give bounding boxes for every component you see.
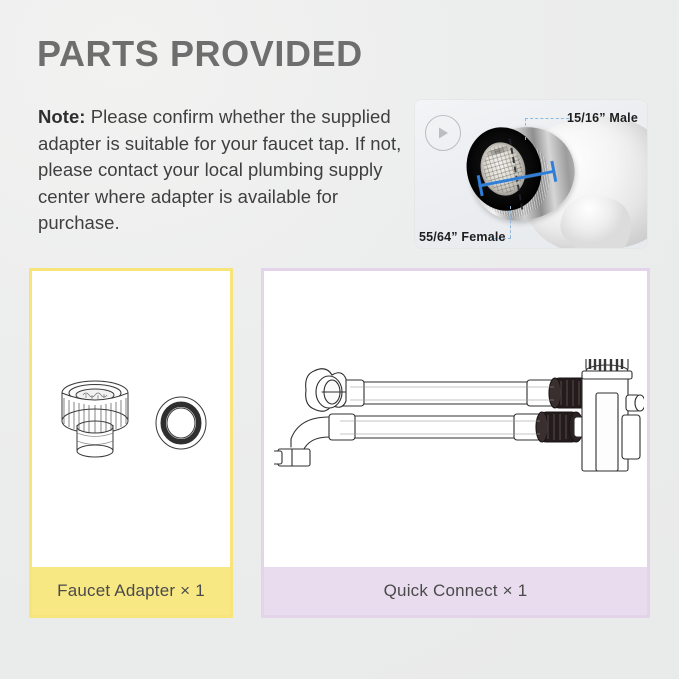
note-body: Please confirm whether the supplied adap… <box>38 106 401 233</box>
part-card-quick-connect: Quick Connect × 1 <box>261 268 650 618</box>
page-title: PARTS PROVIDED <box>37 36 363 72</box>
faucet-adapter-illustration <box>32 271 230 567</box>
elbow-fitting <box>274 417 329 466</box>
female-leader-line-vertical <box>510 206 511 238</box>
parts-provided-page: PARTS PROVIDED Note: Please confirm whet… <box>0 0 679 679</box>
quick-connect-line-drawing <box>274 359 644 489</box>
faucet-photo-panel: 15/16” Male 55/64” Female <box>415 100 647 248</box>
faucet-photo: 15/16” Male 55/64” Female <box>415 100 647 248</box>
quick-connect-illustration <box>264 271 647 567</box>
callout-male-thread: 15/16” Male <box>567 111 638 125</box>
quick-connect-caption: Quick Connect × 1 <box>264 567 647 615</box>
callout-female-thread: 55/64” Female <box>419 230 506 244</box>
play-icon[interactable] <box>425 115 461 151</box>
note-paragraph: Note: Please confirm whether the supplie… <box>38 104 408 237</box>
valve-body <box>582 373 644 471</box>
male-leader-line <box>525 118 569 119</box>
male-leader-line-vertical <box>525 118 526 140</box>
part-card-faucet-adapter: Faucet Adapter × 1 <box>29 268 233 618</box>
handwheel-fitting <box>306 369 346 412</box>
note-label: Note: <box>38 106 86 127</box>
adapter-line-drawing <box>50 371 220 481</box>
faucet-adapter-caption: Faucet Adapter × 1 <box>32 567 230 615</box>
